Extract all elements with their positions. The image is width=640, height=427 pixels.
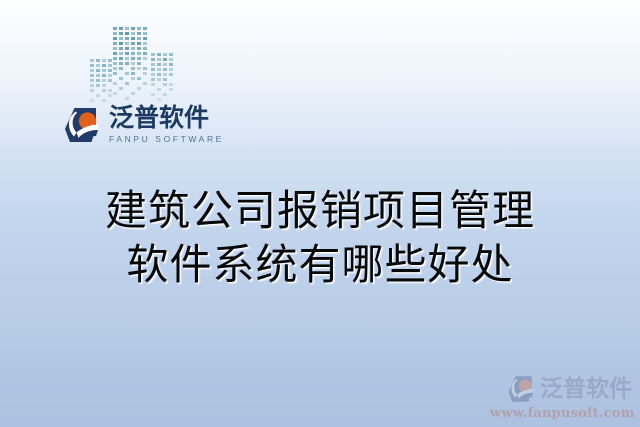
watermark-url: www.fanpusoft.com [490,406,632,421]
watermark-logo-row: 泛普软件 [490,374,632,404]
brand-logo-text: 泛普软件 FANPU SOFTWARE [109,104,224,144]
fanpu-hexagon-logo-icon [507,374,537,404]
brand-logo: 泛普软件 FANPU SOFTWARE [63,104,224,145]
page-title: 建筑公司报销项目管理 软件系统有哪些好处 [0,184,640,292]
page-title-line-1: 建筑公司报销项目管理 [0,184,640,238]
page-title-line-2: 软件系统有哪些好处 [0,238,640,292]
brand-name-en: FANPU SOFTWARE [109,134,224,144]
fanpu-hexagon-logo-icon [63,105,103,145]
watermark-brand-name: 泛普软件 [540,378,632,401]
watermark: 泛普软件 www.fanpusoft.com [490,374,632,421]
marketing-banner: 泛普软件 FANPU SOFTWARE 建筑公司报销项目管理 软件系统有哪些好处… [0,0,640,427]
brand-name-cn: 泛普软件 [109,104,224,131]
pixel-building-skyline-icon [86,22,186,106]
